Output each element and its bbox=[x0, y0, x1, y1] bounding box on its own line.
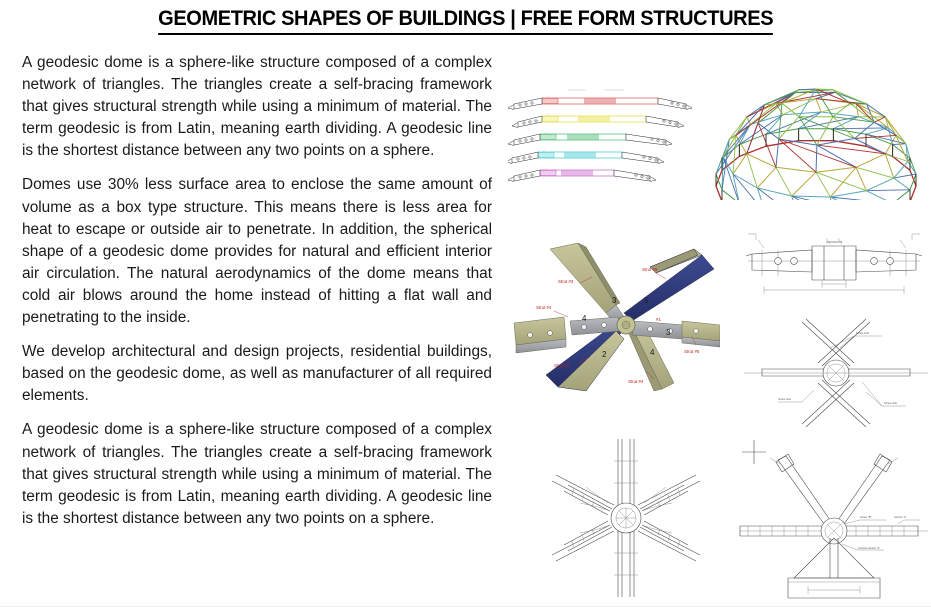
cad-callout-3: Screw rods bbox=[884, 401, 898, 405]
hub-label-strut4: Strut #4 bbox=[536, 305, 552, 310]
hub-num-2: 2 bbox=[602, 350, 607, 359]
hub-label-strut3: Strut #3 bbox=[558, 279, 574, 284]
base-connection-detail-drawing: Screw "B" Anchor "C" Junction sleeve "A" bbox=[738, 432, 930, 604]
hub-label-one: #1 bbox=[656, 317, 661, 322]
colored-strut-length-chart bbox=[508, 88, 698, 186]
hub-connector-3d-render: Strut #3 Strut #5 Strut #4 Strut #2 Stru… bbox=[506, 243, 720, 391]
document-page: GEOMETRIC SHAPES OF BUILDINGS | FREE FOR… bbox=[0, 0, 931, 607]
hub-label-strut5: Strut #5 bbox=[642, 267, 658, 272]
hub-label-strut5b: Strut #5 bbox=[684, 349, 700, 354]
strut-cad-elevation-drawing bbox=[742, 228, 926, 312]
hub-num-5: 5 bbox=[644, 296, 649, 305]
cad-callout-2: Screw rods bbox=[778, 397, 792, 401]
base-callout-3: Junction sleeve "A" bbox=[858, 546, 880, 550]
hub-num-3: 3 bbox=[612, 296, 617, 305]
hub-label-strut4b: Strut #4 bbox=[628, 379, 644, 384]
paragraph: A geodesic dome is a sphere-like structu… bbox=[22, 419, 492, 529]
hub-num-3b: 3 bbox=[666, 328, 671, 337]
paragraph: Domes use 30% less surface area to enclo… bbox=[22, 174, 492, 329]
hub-num-4b: 4 bbox=[650, 348, 655, 357]
six-spoke-hub-cad-plan: Screw rods Screw rods Screw rods bbox=[742, 314, 930, 432]
base-callout-2: Anchor "C" bbox=[894, 515, 907, 519]
six-spoke-hub-detail-drawing bbox=[528, 437, 724, 599]
cad-callout-1: Screw rods bbox=[856, 331, 870, 335]
geodesic-dome-frame bbox=[703, 74, 929, 200]
hub-num-4: 4 bbox=[582, 314, 587, 323]
paragraph: We develop architectural and design proj… bbox=[22, 341, 492, 407]
page-title: GEOMETRIC SHAPES OF BUILDINGS | FREE FOR… bbox=[158, 6, 773, 35]
article-text-column: A geodesic dome is a sphere-like structu… bbox=[22, 52, 492, 530]
title-bar: GEOMETRIC SHAPES OF BUILDINGS | FREE FOR… bbox=[0, 6, 931, 35]
base-callout-1: Screw "B" bbox=[860, 515, 872, 519]
paragraph: A geodesic dome is a sphere-like structu… bbox=[22, 52, 492, 162]
hub-label-strut2: Strut #2 bbox=[554, 363, 570, 368]
